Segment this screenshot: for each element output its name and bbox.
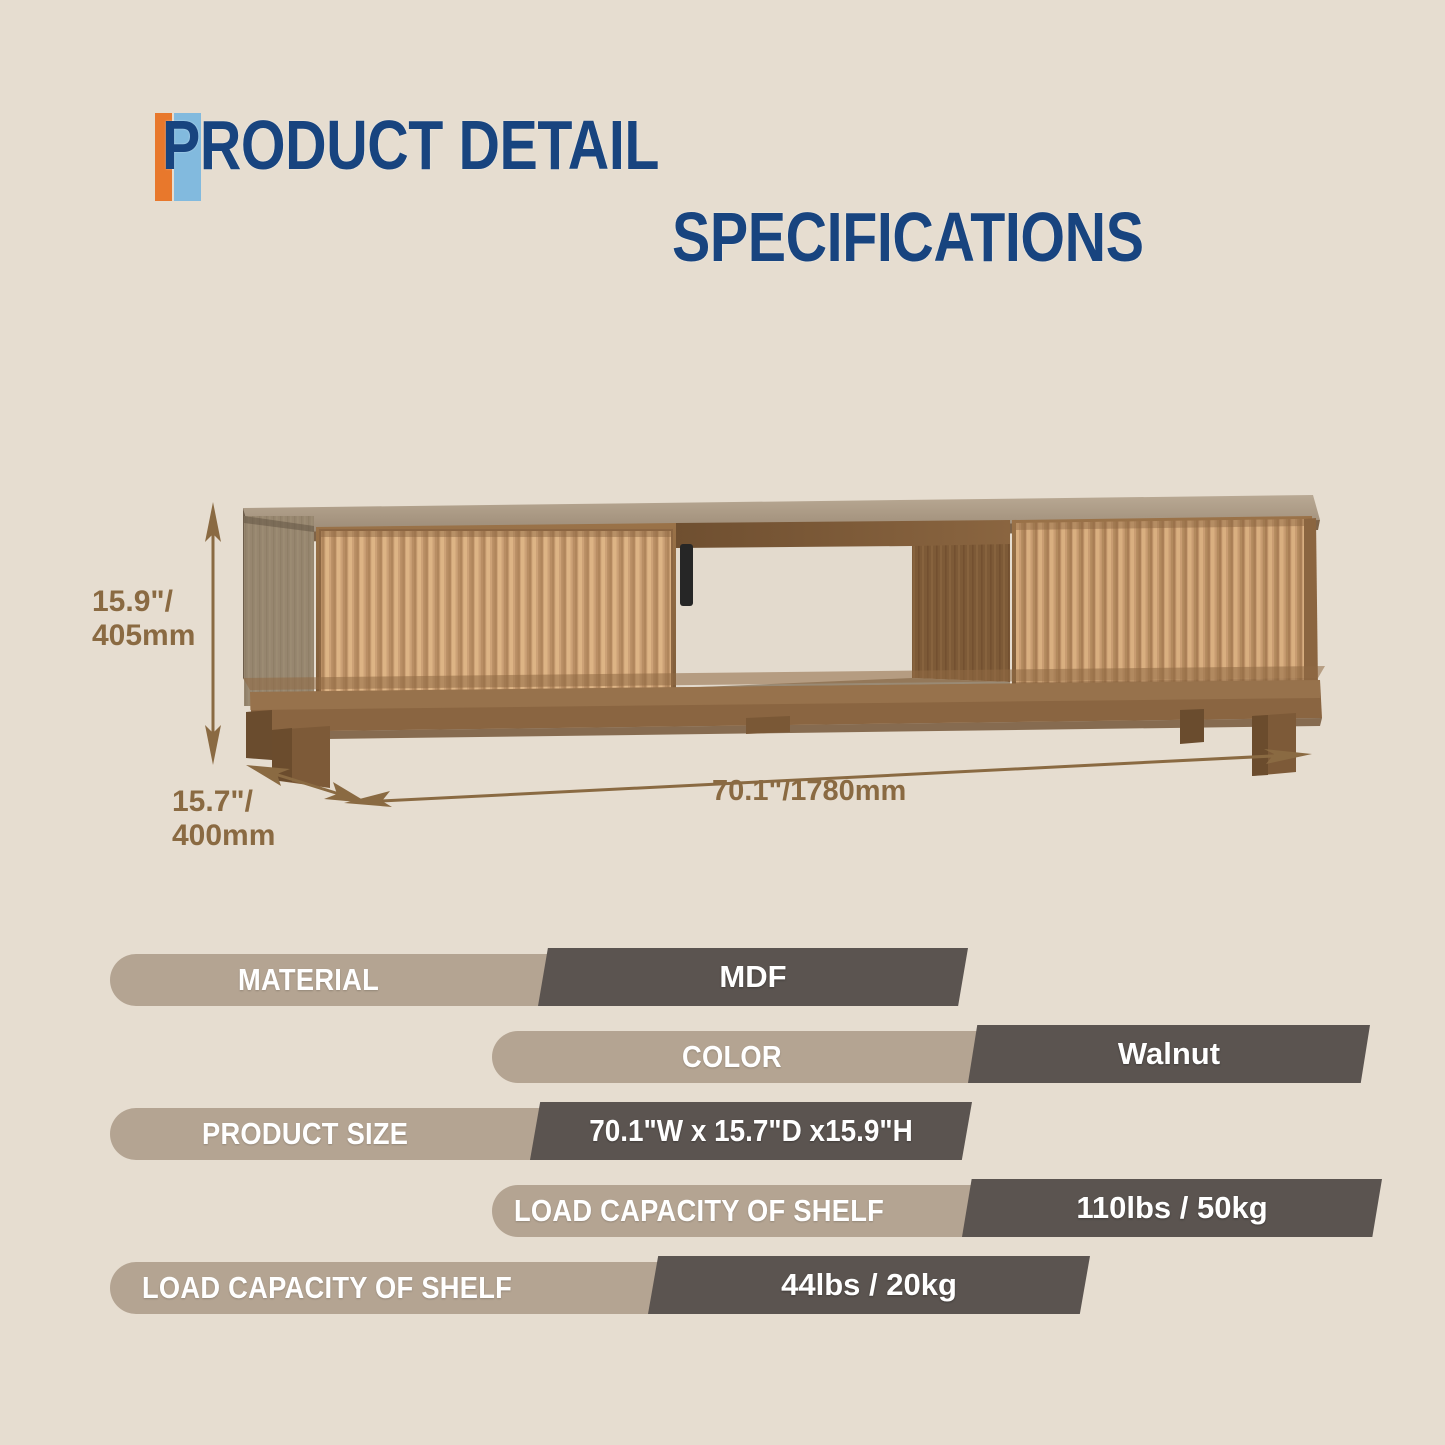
spec-value-chip: MDF [538,948,968,1006]
spec-value-chip: 110lbs / 50kg [962,1179,1382,1237]
spec-value-text: Walnut [968,1036,1370,1072]
spec-value-text: 70.1"W x 15.7"D x15.9"H [552,1113,950,1149]
spec-value-text: 110lbs / 50kg [962,1190,1382,1226]
spec-label-text: COLOR [682,1039,782,1075]
spec-value-chip: Walnut [968,1025,1370,1083]
height-dimension-arrow [205,502,221,765]
spec-label-text: LOAD CAPACITY OF SHELF [514,1193,884,1229]
spec-row-color: COLOR Walnut [0,1025,1445,1099]
spec-value-text: MDF [538,959,968,995]
spec-value-text: 44lbs / 20kg [648,1267,1090,1303]
height-dimension-label: 15.9"/ 405mm [92,585,195,652]
width-dimension-label: 70.1"/1780mm [712,775,906,807]
page-title: PRODUCT DETAIL [162,105,659,185]
page-subtitle: SPECIFICATIONS [672,197,1144,277]
spec-label-text: MATERIAL [238,962,379,998]
spec-row-material: MATERIAL MDF [0,948,1445,1022]
depth-dimension-label: 15.7"/ 400mm [172,785,275,852]
product-figure: 15.9"/ 405mm 15.7"/ 400mm 70.1"/1780mm [0,420,1445,890]
specifications-table: MATERIAL MDF COLOR Walnut PRODUCT SIZE 7… [0,930,1445,1350]
spec-row-load-capacity-shelf-2: LOAD CAPACITY OF SHELF 44lbs / 20kg [0,1256,1445,1330]
spec-row-load-capacity-shelf-1: LOAD CAPACITY OF SHELF 110lbs / 50kg [0,1179,1445,1253]
spec-label-text: PRODUCT SIZE [202,1116,408,1152]
spec-value-chip: 44lbs / 20kg [648,1256,1090,1314]
page-header: PRODUCT DETAIL SPECIFICATIONS [0,0,1445,320]
spec-value-chip: 70.1"W x 15.7"D x15.9"H [530,1102,972,1160]
spec-row-product-size: PRODUCT SIZE 70.1"W x 15.7"D x15.9"H [0,1102,1445,1176]
spec-label-text: LOAD CAPACITY OF SHELF [142,1270,512,1306]
